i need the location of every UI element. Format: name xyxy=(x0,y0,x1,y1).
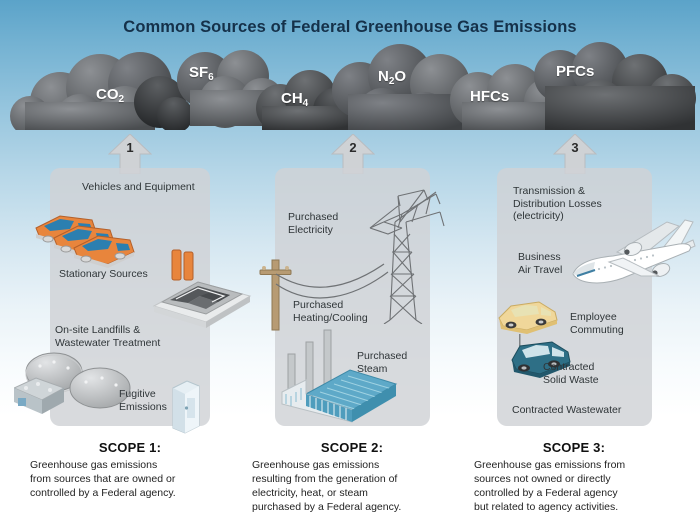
caption-scope-1: SCOPE 1: Greenhouse gas emissions from s… xyxy=(30,440,230,500)
factory-building-icon xyxy=(148,248,256,328)
label-stationary-sources: Stationary Sources xyxy=(59,268,148,281)
cloud-label-n2o: N2O xyxy=(378,68,406,85)
sedan-car-icon xyxy=(495,294,561,336)
caption-body-scope-2: Greenhouse gas emissions resulting from … xyxy=(252,458,452,514)
infographic-root: Common Sources of Federal Greenhouse Gas… xyxy=(0,0,700,522)
caption-heading-scope-3: SCOPE 3: xyxy=(474,440,674,455)
cloud-shape-pfcs xyxy=(534,42,696,130)
cloud-label-pfcs: PFCs xyxy=(556,63,594,80)
arrow-number-3: 3 xyxy=(553,140,597,155)
arrow-number-1: 1 xyxy=(108,140,152,155)
caption-body-scope-1: Greenhouse gas emissions from sources th… xyxy=(30,458,230,500)
airplane-icon xyxy=(563,218,697,302)
label-onsite-landfills-wastewater: On-site Landfills & Wastewater Treatment xyxy=(55,324,160,349)
arrow-number-2: 2 xyxy=(331,140,375,155)
label-purchased-steam: Purchased Steam xyxy=(357,350,407,375)
page-title: Common Sources of Federal Greenhouse Gas… xyxy=(0,18,700,37)
label-fugitive-emissions: Fugitive Emissions xyxy=(119,388,167,413)
landfill-tanks-icon xyxy=(14,352,134,422)
caption-scope-3: SCOPE 3: Greenhouse gas emissions from s… xyxy=(474,440,674,514)
label-vehicles-and-equipment: Vehicles and Equipment xyxy=(82,181,195,194)
label-contracted-wastewater: Contracted Wastewater xyxy=(512,404,621,417)
cloud-band xyxy=(0,40,700,130)
cloud-label-co2: CO2 xyxy=(96,86,124,103)
cloud-label-hfcs: HFCs xyxy=(470,88,509,105)
caption-body-scope-3: Greenhouse gas emissions from sources no… xyxy=(474,458,674,514)
label-employee-commuting: Employee Commuting xyxy=(570,311,624,336)
label-business-air-travel: Business Air Travel xyxy=(518,251,562,276)
label-purchased-heating-cooling: Purchased Heating/Cooling xyxy=(293,299,368,324)
caption-heading-scope-2: SCOPE 2: xyxy=(252,440,452,455)
label-contracted-solid-waste: Contracted Solid Waste xyxy=(543,361,599,386)
label-transmission-distribution-losses: Transmission & Distribution Losses (elec… xyxy=(513,185,602,223)
cloud-shape-n2o xyxy=(332,44,470,130)
caption-scope-2: SCOPE 2: Greenhouse gas emissions result… xyxy=(252,440,452,514)
vehicle-fleet-icon xyxy=(26,196,146,268)
caption-heading-scope-1: SCOPE 1: xyxy=(30,440,230,455)
cloud-label-ch4: CH4 xyxy=(281,90,308,107)
label-purchased-electricity: Purchased Electricity xyxy=(288,211,338,236)
fugitive-emissions-cabinet-icon xyxy=(169,378,203,434)
cloud-label-sf6: SF6 xyxy=(189,64,214,81)
